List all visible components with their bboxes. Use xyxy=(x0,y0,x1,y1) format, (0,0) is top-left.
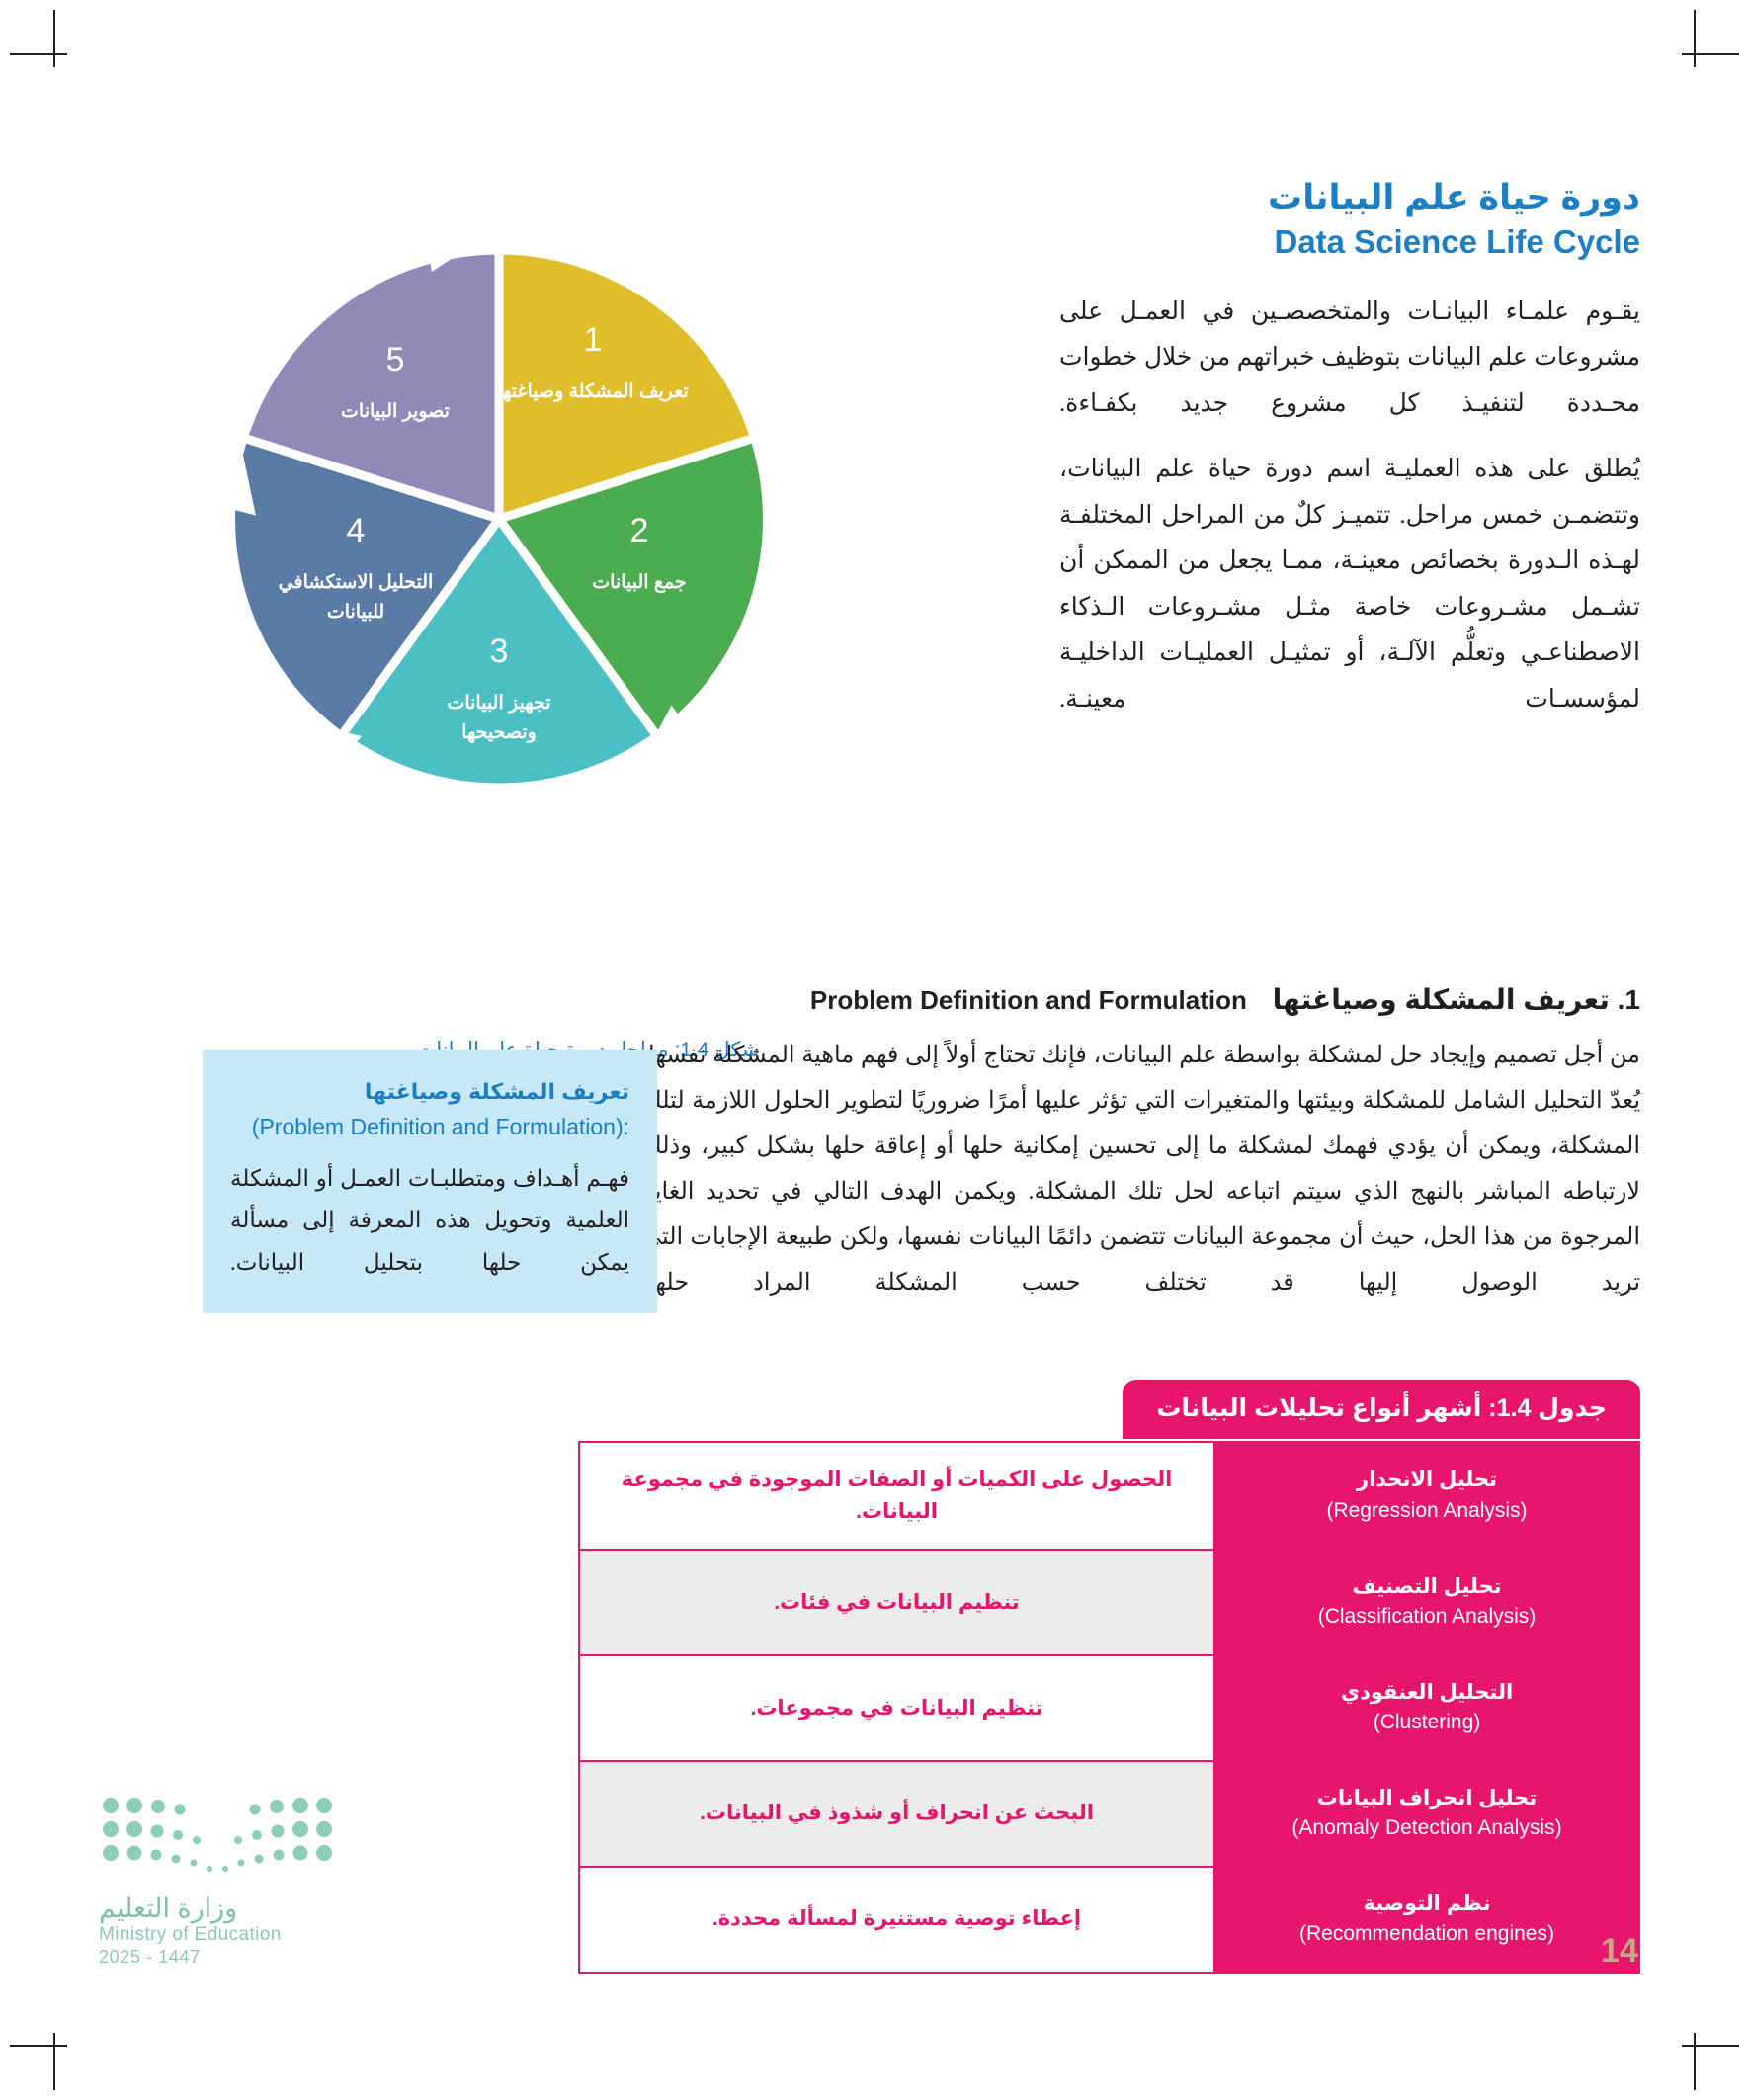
segment-3-label-2: وتصحيحها xyxy=(461,722,537,743)
table-cell-name: تحليل انحراف البيانات (Anomaly Detection… xyxy=(1214,1761,1639,1867)
analysis-name-arabic: نظم التوصية xyxy=(1229,1890,1624,1919)
data-science-life-cycle-diagram: 1 تعريف المشكلة وصياغتها 2 جمع البيانات … xyxy=(173,128,825,919)
analysis-name-english: (Clustering) xyxy=(1229,1708,1624,1737)
subsection-title-arabic: تعريف المشكلة وصياغتها xyxy=(1273,984,1610,1015)
analysis-name-arabic: تحليل انحراف البيانات xyxy=(1229,1784,1624,1813)
definition-title-arabic: تعريف المشكلة وصياغتها xyxy=(230,1075,629,1108)
table-cell-description: البحث عن انحراف أو شذوذ في البيانات. xyxy=(579,1761,1214,1867)
crop-mark-bottom-left-h xyxy=(10,2045,67,2047)
table-cell-name: نظم التوصية (Recommendation engines) xyxy=(1214,1867,1639,1973)
table-cell-name: تحليل التصنيف (Classification Analysis) xyxy=(1214,1550,1639,1655)
crop-mark-bottom-right-h xyxy=(1682,2045,1739,2047)
crop-mark-top-left xyxy=(53,10,55,67)
segment-2-label: جمع البيانات xyxy=(592,572,686,593)
subsection-title-english: Problem Definition and Formulation xyxy=(810,985,1247,1015)
table-title: جدول 1.4: أشهر أنواع تحليلات البيانات xyxy=(1123,1380,1640,1439)
crop-mark-bottom-right xyxy=(1694,2033,1696,2090)
logo-text-arabic: وزارة التعليم xyxy=(99,1893,336,1924)
table-row: نظم التوصية (Recommendation engines) إعط… xyxy=(579,1867,1639,1973)
analysis-name-arabic: التحليل العنقودي xyxy=(1229,1678,1624,1708)
table-cell-description: تنظيم البيانات في مجموعات. xyxy=(579,1655,1214,1761)
subsection-body-text: من أجل تصميم وإيجاد حل لمشكلة بواسطة علم… xyxy=(642,1033,1640,1305)
subsection-heading: 1. تعريف المشكلة وصياغتها Problem Defini… xyxy=(642,983,1640,1016)
segment-4-label: التحليل الاستكشافي xyxy=(279,572,434,594)
intro-paragraph-1: يقـوم علمـاء البيانـات والمتخصصـين في ال… xyxy=(1059,290,1640,428)
segment-2-number: 2 xyxy=(630,512,649,549)
logo-dots-icon xyxy=(99,1794,336,1883)
table-cell-name: التحليل العنقودي (Clustering) xyxy=(1214,1655,1639,1761)
segment-1-label: تعريف المشكلة وصياغتها xyxy=(497,381,688,402)
definition-title-english: (Problem Definition and Formulation): xyxy=(230,1110,629,1144)
table-cell-description: إعطاء توصية مستنيرة لمسألة محددة. xyxy=(579,1867,1214,1973)
segment-4-label-2: للبيانات xyxy=(327,602,384,623)
table-row: تحليل الانحدار (Regression Analysis) الح… xyxy=(579,1442,1639,1550)
segment-3-label: تجهيز البيانات xyxy=(447,693,550,714)
logo-text-english: Ministry of Education xyxy=(99,1924,336,1946)
textbook-page: دورة حياة علم البيانات Data Science Life… xyxy=(0,0,1749,2100)
segment-4-number: 4 xyxy=(347,512,366,549)
analysis-name-english: (Recommendation engines) xyxy=(1229,1919,1624,1949)
analysis-name-english: (Anomaly Detection Analysis) xyxy=(1229,1813,1624,1843)
table-cell-description: الحصول على الكميات أو الصفات الموجودة في… xyxy=(579,1442,1214,1550)
analysis-types-table: تحليل الانحدار (Regression Analysis) الح… xyxy=(578,1441,1640,1974)
crop-mark-top-left-h xyxy=(10,53,67,55)
segment-5-label: تصوير البيانات xyxy=(341,401,450,422)
table-row: تحليل التصنيف (Classification Analysis) … xyxy=(579,1550,1639,1655)
intro-paragraph-2: يُطلق على هذه العمليـة اسم دورة حياة علم… xyxy=(1059,447,1640,722)
page-number: 14 xyxy=(1601,1932,1638,1971)
analysis-name-english: (Classification Analysis) xyxy=(1229,1602,1624,1632)
page-title-arabic: دورة حياة علم البيانات xyxy=(1059,176,1640,219)
definition-callout-box: تعريف المشكلة وصياغتها (Problem Definiti… xyxy=(203,1050,657,1313)
definition-text: فهـم أهـداف ومتطلبـات العمـل أو المشكلة … xyxy=(230,1158,629,1285)
crop-mark-top-right xyxy=(1694,10,1696,67)
page-title-english: Data Science Life Cycle xyxy=(1059,221,1640,264)
table-row: التحليل العنقودي (Clustering) تنظيم البي… xyxy=(579,1655,1639,1761)
analysis-name-arabic: تحليل التصنيف xyxy=(1229,1572,1624,1602)
segment-5-number: 5 xyxy=(386,341,405,378)
logo-text-years: 2025 - 1447 xyxy=(99,1947,336,1968)
table-row: تحليل انحراف البيانات (Anomaly Detection… xyxy=(579,1761,1639,1867)
crop-mark-top-right-h xyxy=(1682,53,1739,55)
subsection-number: 1. xyxy=(1618,984,1640,1015)
ministry-of-education-logo: وزارة التعليم Ministry of Education 2025… xyxy=(99,1794,336,1968)
segment-3-number: 3 xyxy=(490,632,509,670)
segment-1-number: 1 xyxy=(584,321,603,359)
analysis-name-english: (Regression Analysis) xyxy=(1229,1496,1624,1526)
table-cell-description: تنظيم البيانات في فئات. xyxy=(579,1550,1214,1655)
table-cell-name: تحليل الانحدار (Regression Analysis) xyxy=(1214,1442,1639,1550)
intro-text-column: دورة حياة علم البيانات Data Science Life… xyxy=(1059,176,1640,742)
crop-mark-bottom-left xyxy=(53,2033,55,2090)
analysis-name-arabic: تحليل الانحدار xyxy=(1229,1466,1624,1495)
